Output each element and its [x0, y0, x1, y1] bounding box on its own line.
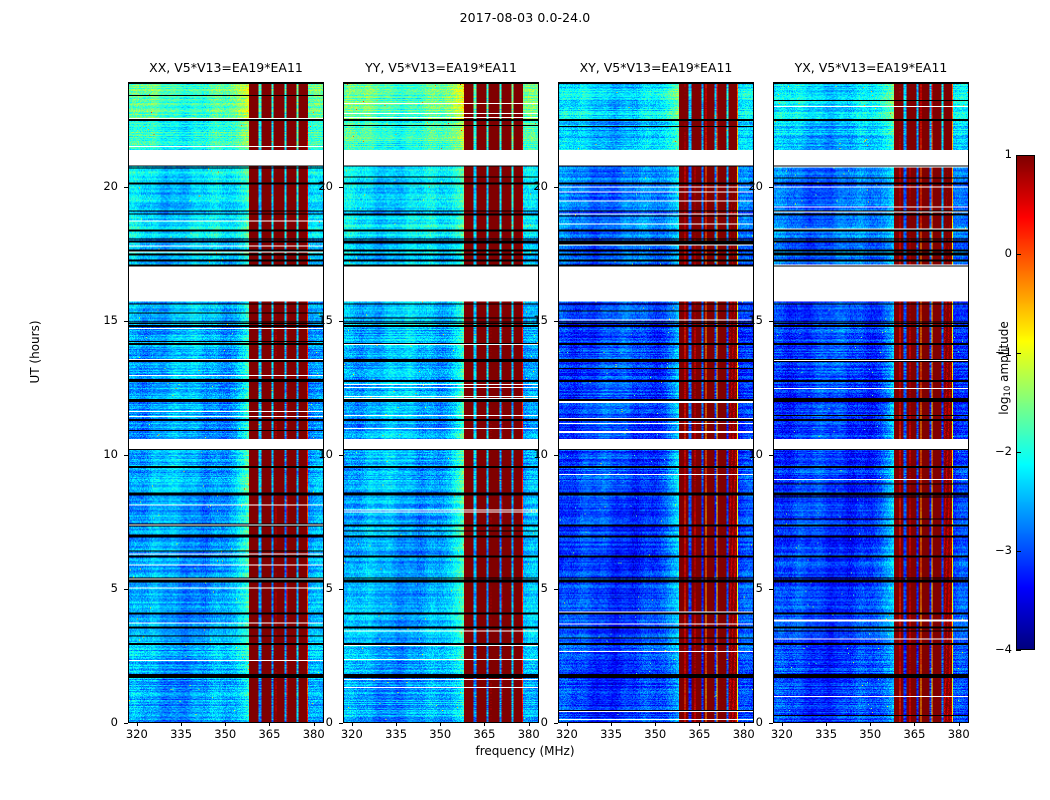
x-tick-mark — [699, 722, 700, 726]
y-tick-mark — [769, 187, 773, 188]
x-tick-label: 320 — [332, 727, 372, 741]
x-tick-mark — [396, 722, 397, 726]
y-tick-label: 0 — [78, 715, 118, 729]
y-tick-label: 5 — [78, 581, 118, 595]
x-tick-label: 380 — [509, 727, 549, 741]
x-tick-label: 335 — [161, 727, 201, 741]
y-tick-mark — [769, 723, 773, 724]
x-tick-label: 380 — [294, 727, 334, 741]
colorbar-tick-mark — [1016, 452, 1021, 453]
y-tick-label: 15 — [508, 313, 548, 327]
colorbar-tick-mark — [1016, 353, 1021, 354]
y-tick-mark — [554, 455, 558, 456]
y-tick-label: 5 — [293, 581, 333, 595]
x-tick-mark — [782, 722, 783, 726]
x-tick-label: 380 — [724, 727, 764, 741]
x-tick-label: 320 — [117, 727, 157, 741]
y-tick-label: 10 — [723, 447, 763, 461]
y-tick-mark — [339, 321, 343, 322]
x-tick-label: 335 — [806, 727, 846, 741]
colorbar-label-sub: 10 — [1003, 386, 1013, 397]
x-tick-label: 365 — [679, 727, 719, 741]
y-tick-mark — [124, 455, 128, 456]
y-tick-label: 5 — [508, 581, 548, 595]
y-tick-label: 0 — [508, 715, 548, 729]
x-tick-mark — [959, 722, 960, 726]
y-tick-label: 15 — [78, 313, 118, 327]
y-tick-mark — [339, 187, 343, 188]
colorbar-tick-label: 0 — [982, 246, 1012, 260]
colorbar-tick-label: −4 — [982, 642, 1012, 656]
y-tick-label: 10 — [508, 447, 548, 461]
x-tick-mark — [440, 722, 441, 726]
figure-suptitle: 2017-08-03 0.0-24.0 — [0, 10, 1050, 25]
y-tick-mark — [124, 723, 128, 724]
x-tick-label: 365 — [464, 727, 504, 741]
x-tick-mark — [826, 722, 827, 726]
waterfall-panel-xy[interactable] — [558, 82, 754, 723]
x-tick-mark — [137, 722, 138, 726]
colorbar-tick-mark — [1016, 155, 1021, 156]
x-tick-label: 365 — [249, 727, 289, 741]
y-tick-label: 20 — [508, 179, 548, 193]
x-tick-mark — [870, 722, 871, 726]
x-tick-label: 320 — [547, 727, 587, 741]
x-tick-mark — [914, 722, 915, 726]
x-axis-label: frequency (MHz) — [0, 744, 1050, 758]
x-tick-label: 335 — [591, 727, 631, 741]
x-tick-label: 350 — [635, 727, 675, 741]
x-tick-label: 335 — [376, 727, 416, 741]
colorbar-label-suffix: amplitude — [997, 321, 1011, 385]
x-tick-label: 350 — [205, 727, 245, 741]
y-tick-label: 10 — [78, 447, 118, 461]
x-tick-mark — [225, 722, 226, 726]
y-tick-mark — [124, 589, 128, 590]
y-axis-label: UT (hours) — [28, 282, 42, 422]
x-tick-mark — [611, 722, 612, 726]
y-tick-mark — [769, 321, 773, 322]
colorbar-label-prefix: log — [997, 397, 1011, 415]
x-tick-label: 320 — [762, 727, 802, 741]
y-tick-label: 0 — [293, 715, 333, 729]
y-tick-label: 15 — [723, 313, 763, 327]
y-tick-mark — [339, 455, 343, 456]
x-tick-mark — [269, 722, 270, 726]
colorbar-tick-mark — [1016, 551, 1021, 552]
y-tick-label: 20 — [78, 179, 118, 193]
colorbar-label: log10 amplitude — [997, 278, 1013, 458]
x-tick-label: 350 — [420, 727, 460, 741]
y-tick-mark — [554, 723, 558, 724]
x-tick-label: 350 — [850, 727, 890, 741]
y-tick-mark — [339, 589, 343, 590]
y-tick-label: 5 — [723, 581, 763, 595]
y-tick-mark — [554, 321, 558, 322]
waterfall-panel-yx[interactable] — [773, 82, 969, 723]
y-tick-mark — [339, 723, 343, 724]
y-tick-label: 10 — [293, 447, 333, 461]
colorbar-tick-mark — [1016, 254, 1021, 255]
y-tick-mark — [554, 589, 558, 590]
y-tick-mark — [554, 187, 558, 188]
y-tick-label: 20 — [293, 179, 333, 193]
waterfall-panel-yy[interactable] — [343, 82, 539, 723]
colorbar-tick-mark — [1016, 650, 1021, 651]
colorbar-tick-label: −3 — [982, 543, 1012, 557]
waterfall-panel-xx[interactable] — [128, 82, 324, 723]
x-tick-label: 380 — [939, 727, 979, 741]
y-tick-label: 15 — [293, 313, 333, 327]
x-tick-mark — [484, 722, 485, 726]
colorbar-tick-label: 1 — [982, 147, 1012, 161]
x-tick-label: 365 — [894, 727, 934, 741]
x-tick-mark — [567, 722, 568, 726]
panel-title-yx: YX, V5*V13=EA19*EA11 — [733, 60, 1009, 78]
x-tick-mark — [655, 722, 656, 726]
y-tick-mark — [124, 187, 128, 188]
y-tick-mark — [769, 455, 773, 456]
y-tick-mark — [769, 589, 773, 590]
y-tick-mark — [124, 321, 128, 322]
x-tick-mark — [352, 722, 353, 726]
y-tick-label: 20 — [723, 179, 763, 193]
colorbar — [1016, 155, 1035, 650]
y-tick-label: 0 — [723, 715, 763, 729]
x-tick-mark — [181, 722, 182, 726]
